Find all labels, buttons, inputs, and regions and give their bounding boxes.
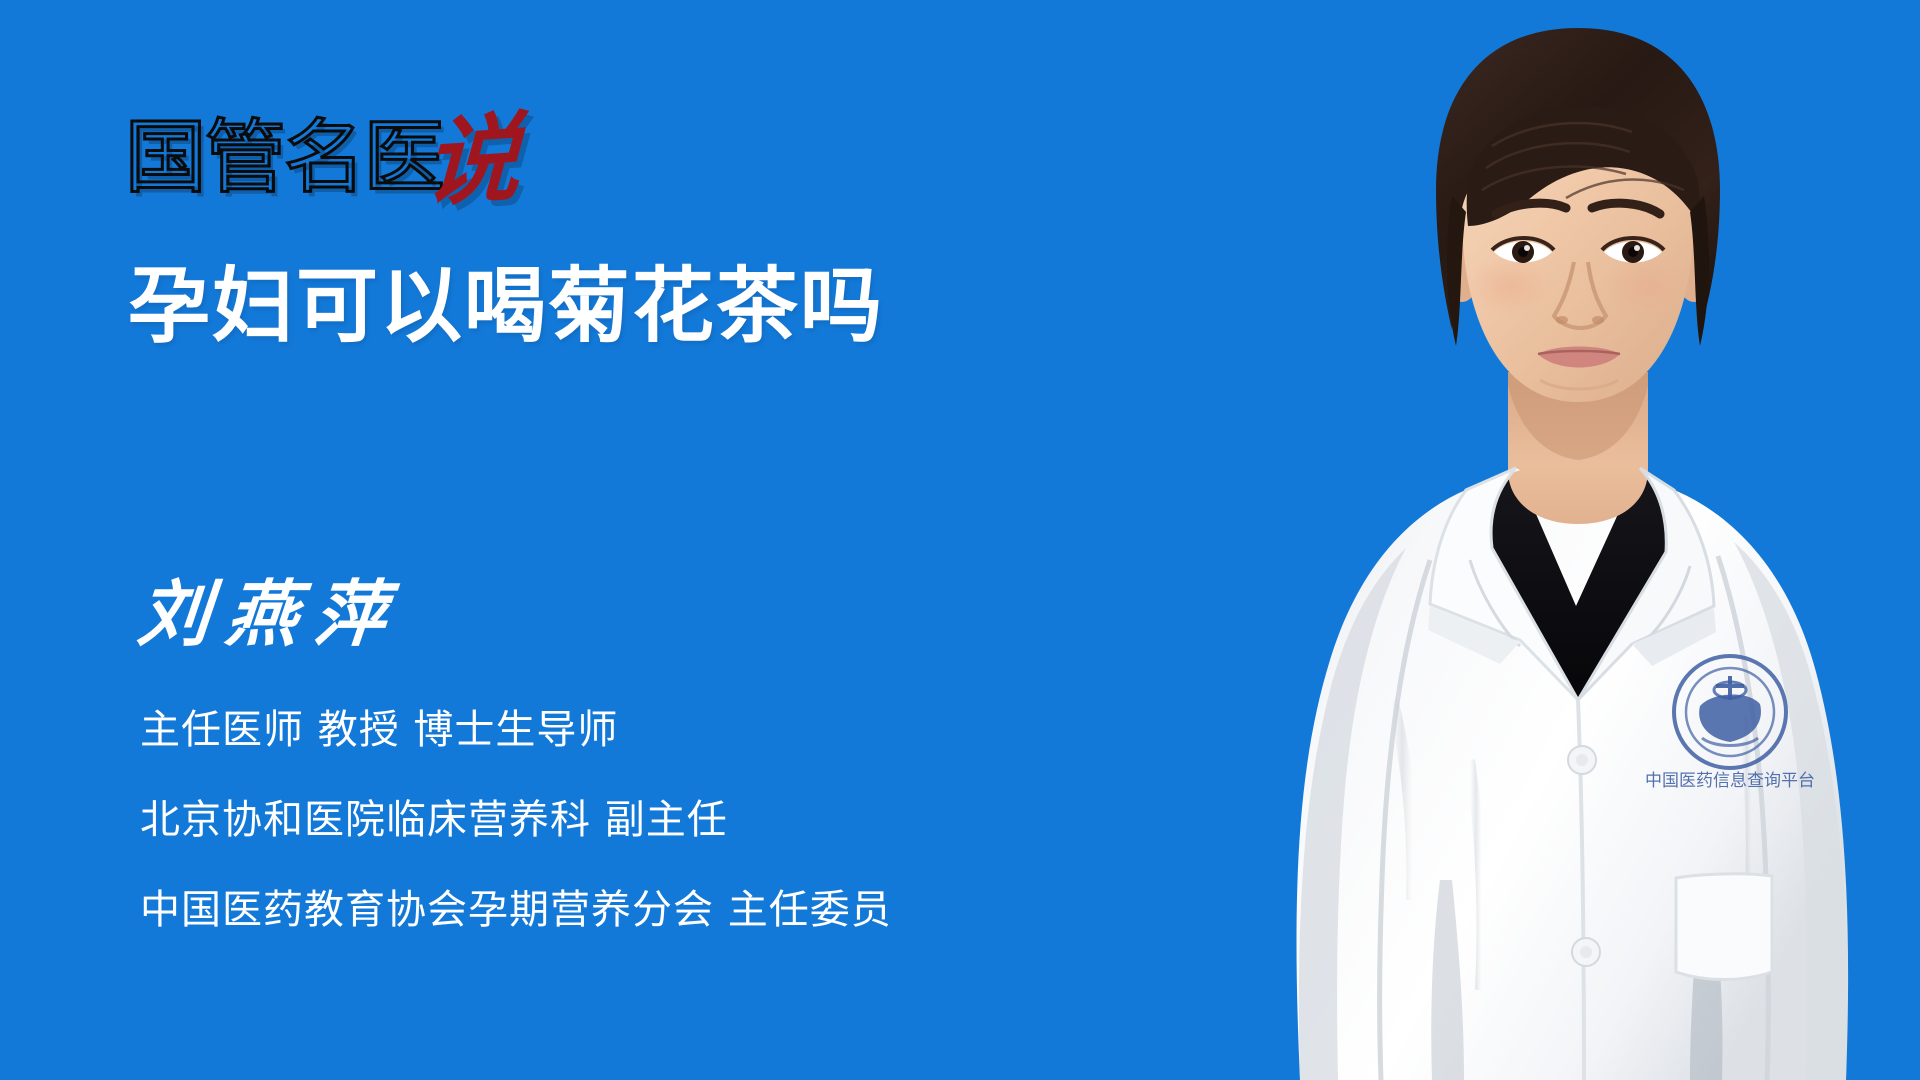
doctor-credentials: 主任医师 教授 博士生导师 北京协和医院临床营养科 副主任 中国医药教育协会孕期…: [140, 710, 1140, 930]
inner-shirt: [1491, 466, 1666, 700]
neck: [1508, 372, 1648, 524]
badge-caption: 中国医药信息查询平台: [1645, 771, 1815, 791]
coat-pocket: [1676, 874, 1772, 980]
brand-logo: 国管名医 说: [128, 90, 520, 198]
coat-button: [1572, 938, 1600, 966]
eye-left: [1492, 238, 1554, 263]
brand-logo-accent-text: 说: [423, 111, 522, 209]
doctor-name: 刘燕萍: [135, 578, 405, 650]
eye-right: [1602, 238, 1664, 263]
poster-canvas: 国管名医 说 孕妇可以喝菊花茶吗 刘燕萍 主任医师 教授 博士生导师 北京协和医…: [0, 0, 1920, 1080]
brand-logo-main-text: 国管名医: [125, 118, 443, 198]
coat-button: [1568, 746, 1596, 774]
credential-line: 北京协和医院临床营养科 副主任: [140, 800, 1140, 840]
page-title: 孕妇可以喝菊花茶吗: [128, 261, 884, 353]
doctor-head: [1436, 28, 1720, 402]
coat-lapel: [1428, 468, 1716, 700]
coat-front: [1568, 700, 1600, 1080]
eyebrow-left: [1496, 203, 1566, 214]
lab-coat: [1296, 470, 1848, 1080]
credential-line: 主任医师 教授 博士生导师: [140, 710, 1140, 750]
credential-line: 中国医药教育协会孕期营养分会 主任委员: [140, 890, 1140, 930]
hospital-badge: 中国医药信息查询平台: [1645, 656, 1815, 791]
eyebrow-right: [1592, 203, 1660, 214]
